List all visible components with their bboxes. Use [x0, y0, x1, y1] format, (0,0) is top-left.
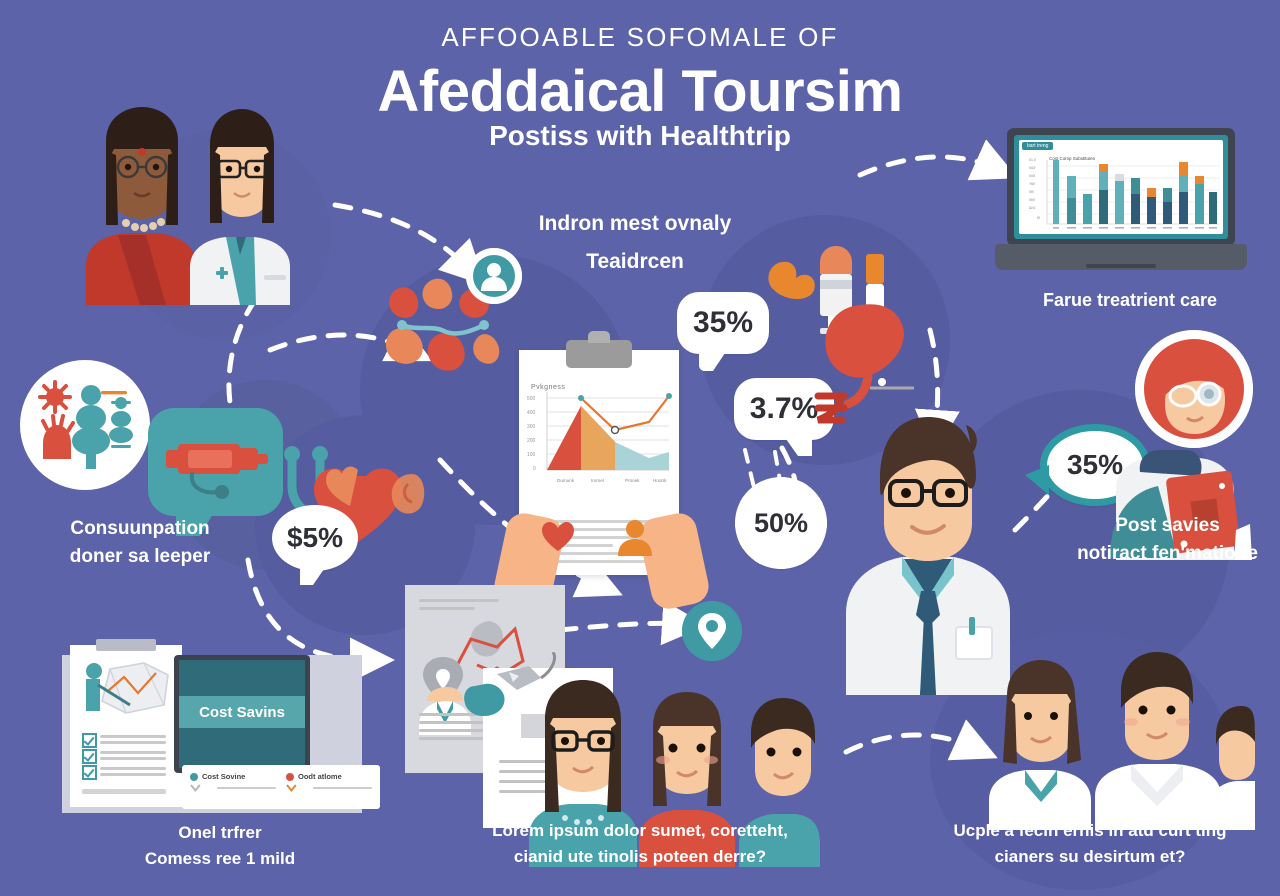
family-group-right — [985, 650, 1255, 835]
medical-device-bubble — [148, 408, 283, 516]
legend-item: Cost Sovine — [190, 772, 276, 802]
svg-text:0b0: 0b0 — [1029, 198, 1035, 202]
paper-clip — [96, 639, 156, 651]
heart-icon — [541, 520, 575, 557]
caption-left-line2: Comess ree 1 mild — [95, 846, 345, 872]
legend-bar — [313, 787, 372, 789]
svg-text:300: 300 — [527, 424, 536, 430]
check-icon — [82, 733, 97, 748]
svg-text:Prooek: Prooek — [625, 478, 640, 483]
svg-text:Dumunk: Dumunk — [557, 478, 575, 483]
legend-dot-icon — [286, 773, 294, 781]
stat-bubble-5: $5% — [272, 505, 358, 571]
svg-text:Irorsel: Irorsel — [591, 478, 604, 483]
cost-savings-card: Cost Savins Cost Sovine — [70, 645, 380, 813]
map-pin-badge — [682, 601, 742, 661]
caption-center: Lorem ipsum dolor sumet, coretteht, cian… — [455, 818, 825, 870]
stat-bubble-35-left: 35% — [677, 292, 769, 354]
patient-and-doctor-illustration — [70, 105, 300, 310]
caption-center-line1: Lorem ipsum dolor sumet, coretteht, — [455, 818, 825, 844]
center-lead-line1: Indron mest ovnaly — [460, 205, 810, 243]
stat-bubble-50-value: 50% — [754, 508, 808, 539]
person-avatar-icon — [615, 518, 655, 561]
checklist-paper — [70, 645, 182, 807]
laptop-base — [995, 244, 1247, 270]
svg-text:100: 100 — [527, 452, 536, 458]
label-right-mid-line1: Post savies — [1055, 512, 1280, 540]
svg-text:01.0: 01.0 — [1029, 158, 1036, 162]
checklist-line — [100, 773, 166, 776]
checklist-line — [100, 741, 166, 744]
label-right-top: Farue treatrient care — [985, 286, 1275, 314]
svg-text:200: 200 — [527, 438, 536, 444]
monitor-screen: Cost Savins — [179, 660, 305, 768]
checklist-footer-line — [82, 789, 166, 794]
caption-right: Ucple a fecin ernis in atd curt ting cia… — [930, 818, 1250, 870]
svg-text:0: 0 — [533, 466, 536, 472]
laptop-screen: bart treng Cost Comp Substitutes 01.00&9… — [1014, 135, 1228, 239]
checklist-line — [100, 751, 166, 754]
laptop-dashboard: bart treng Cost Comp Substitutes 01.00&9… — [995, 128, 1257, 286]
page-kicker: AFFOOABLE SOFOMALE OF — [0, 22, 1280, 53]
caption-left: Onel trfrer Comess ree 1 mild — [95, 820, 345, 872]
caption-center-line2: cianid ute tinolis poteen derre? — [455, 844, 825, 870]
caption-right-line2: cianers su desirtum et? — [930, 844, 1250, 870]
clipboard-clip — [566, 340, 632, 368]
legend-label: Oodt atlome — [298, 772, 342, 781]
svg-text:?60: ?60 — [1029, 182, 1035, 186]
label-right-mid-line2: notiract fen'matione — [1055, 540, 1280, 568]
legend-label: Cost Sovine — [202, 772, 245, 781]
user-circle-badge — [466, 248, 522, 304]
legend-dot-icon — [190, 773, 198, 781]
checklist-line — [100, 735, 166, 738]
svg-text:f0: f0 — [1037, 216, 1040, 220]
caption-left-line1: Onel trfrer — [95, 820, 345, 846]
stat-bubble-50: 50% — [735, 477, 827, 569]
svg-text:500: 500 — [527, 396, 536, 402]
svg-text:0n5: 0n5 — [1029, 174, 1035, 178]
check-icon — [82, 749, 97, 764]
laptop-window-title: bart treng — [1022, 142, 1053, 150]
label-left-line2: doner sa leeper — [0, 543, 280, 571]
svg-text:0f0: 0f0 — [1029, 190, 1034, 194]
laptop-screen-content: bart treng Cost Comp Substitutes 01.00&9… — [1019, 140, 1223, 234]
cost-savings-title: Cost Savins — [179, 696, 305, 728]
chevron-down-icon — [190, 784, 201, 792]
laptop-lid: bart treng Cost Comp Substitutes 01.00&9… — [1007, 128, 1235, 246]
svg-text:Hootrk: Hootrk — [653, 478, 667, 483]
checklist-line — [100, 767, 166, 770]
medical-icons-badge — [20, 360, 150, 490]
monitor: Cost Savins — [174, 655, 310, 773]
label-left: Consuunpation doner sa leeper — [0, 515, 280, 571]
svg-text:400: 400 — [527, 410, 536, 416]
infographic-canvas: AFFOOABLE SOFOMALE OF Afeddaical Toursim… — [0, 0, 1280, 896]
label-left-line1: Consuunpation — [0, 515, 280, 543]
label-right-mid: Post savies notiract fen'matione — [1055, 512, 1280, 568]
svg-text:0&9: 0&9 — [1029, 166, 1035, 170]
caption-right-line1: Ucple a fecin ernis in atd curt ting — [930, 818, 1250, 844]
checklist-line — [100, 757, 166, 760]
cost-savings-legend: Cost Sovine Oodt atlome — [182, 765, 380, 809]
chevron-down-icon — [286, 784, 297, 792]
legend-bar — [217, 787, 276, 789]
legend-item: Oodt atlome — [286, 772, 372, 802]
svg-text:&n0: &n0 — [1029, 206, 1035, 210]
check-icon — [82, 765, 97, 780]
